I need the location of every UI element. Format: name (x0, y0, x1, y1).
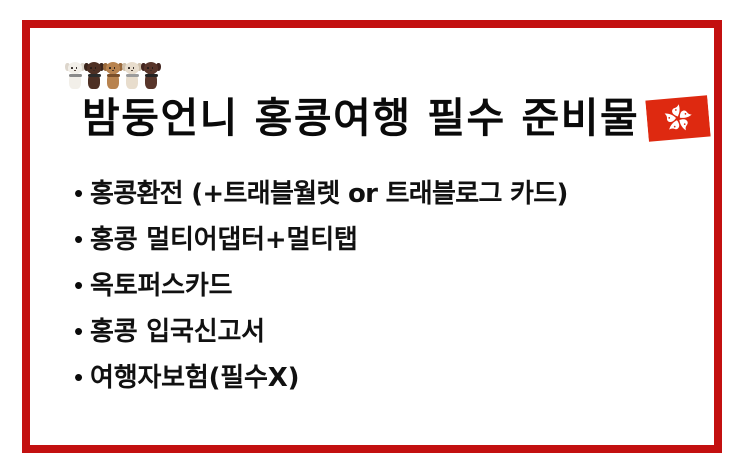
list-item-label: 옥토퍼스카드 (90, 273, 232, 299)
list-item-label: 여행자보험(필수X) (90, 365, 299, 391)
bullet-marker-icon: • (74, 318, 90, 344)
dog-icon-brown (142, 62, 160, 92)
bullet-marker-icon: • (74, 180, 90, 206)
dog-icon-dark-brown (85, 62, 103, 92)
title-row: 밤둥언니 홍콩여행 필수 준비물 (82, 90, 709, 146)
checklist: • 홍콩환전 (+트래블월렛 or 트래블로그 카드) • 홍콩 멀티어댑터+멀… (74, 180, 738, 410)
list-item-label: 홍콩 멀티어댑터+멀티탭 (90, 227, 358, 253)
red-border-frame: 밤둥언니 홍콩여행 필수 준비물 (22, 20, 722, 453)
list-item: • 홍콩 멀티어댑터+멀티탭 (74, 226, 738, 272)
list-item: • 여행자보험(필수X) (74, 364, 738, 410)
bullet-marker-icon: • (74, 364, 90, 390)
list-item: • 홍콩 입국신고서 (74, 318, 738, 364)
dog-icon-white (66, 62, 84, 92)
page-title: 밤둥언니 홍콩여행 필수 준비물 (82, 98, 639, 139)
list-item-label: 홍콩 입국신고서 (90, 319, 265, 345)
dog-icon-cream (123, 62, 141, 92)
list-item: • 홍콩환전 (+트래블월렛 or 트래블로그 카드) (74, 180, 738, 226)
list-item: • 옥토퍼스카드 (74, 272, 738, 318)
bullet-marker-icon: • (74, 226, 90, 252)
five-dogs-sticker (66, 58, 162, 92)
poster-canvas: 밤둥언니 홍콩여행 필수 준비물 (0, 0, 743, 472)
hong-kong-flag-icon (645, 94, 711, 142)
dog-icon-tan (104, 62, 122, 92)
bullet-marker-icon: • (74, 272, 90, 298)
list-item-label: 홍콩환전 (+트래블월렛 or 트래블로그 카드) (90, 181, 568, 207)
